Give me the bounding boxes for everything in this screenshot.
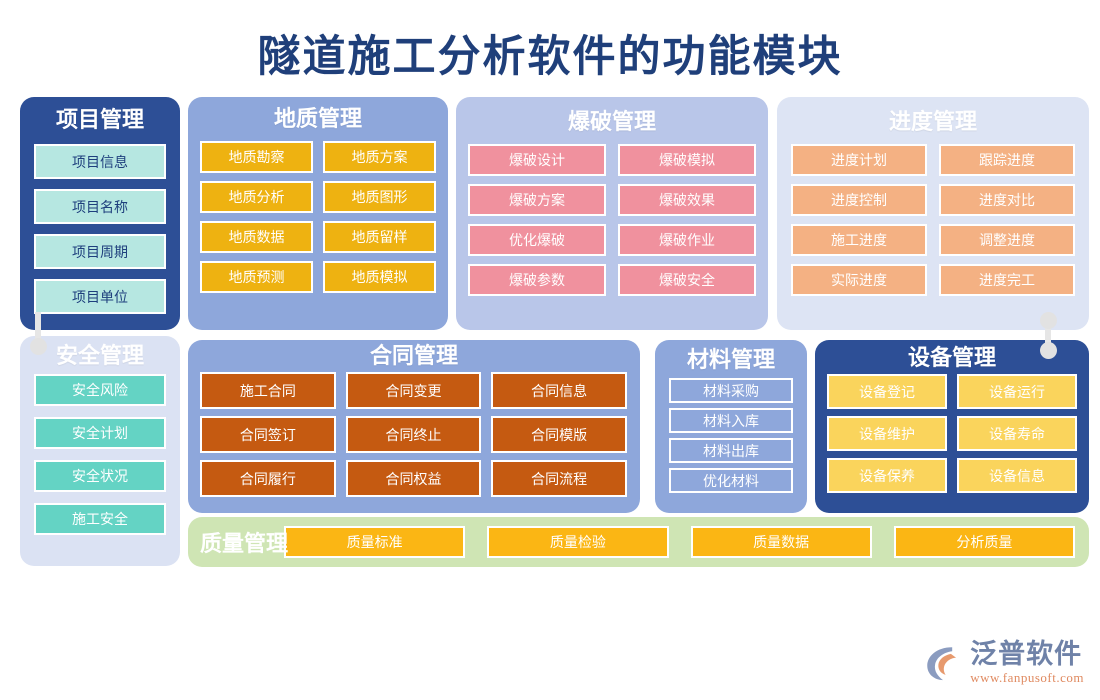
item-contract-performance[interactable]: 合同履行 <box>200 460 336 497</box>
brand-name: 泛普软件 <box>970 641 1084 668</box>
item-progress-comparison[interactable]: 进度对比 <box>939 184 1075 216</box>
item-contract-termination[interactable]: 合同终止 <box>346 416 482 453</box>
item-blasting-effect[interactable]: 爆破效果 <box>618 184 756 216</box>
connector-dot-bottom-icon <box>1040 342 1057 359</box>
panel-title-progress: 进度管理 <box>777 110 1089 134</box>
brand-url: www.fanpusoft.com <box>970 671 1084 684</box>
item-safety-status[interactable]: 安全状况 <box>34 460 166 492</box>
connector-pin-right <box>1040 312 1064 366</box>
item-blasting-safety[interactable]: 爆破安全 <box>618 264 756 296</box>
item-contract-info[interactable]: 合同信息 <box>491 372 627 409</box>
panel-title-blasting: 爆破管理 <box>456 110 768 134</box>
item-contract-change[interactable]: 合同变更 <box>346 372 482 409</box>
item-list-geology: 地质勘察 地质方案 地质分析 地质图形 地质数据 地质留样 地质预测 地质模拟 <box>188 131 448 293</box>
item-geology-analysis[interactable]: 地质分析 <box>200 181 313 213</box>
panel-title-material: 材料管理 <box>655 348 807 372</box>
panel-project-management[interactable]: 项目管理 项目信息 项目名称 项目周期 项目单位 <box>20 97 180 330</box>
page-title: 隧道施工分析软件的功能模块 <box>0 22 1100 84</box>
item-list-project: 项目信息 项目名称 项目周期 项目单位 <box>20 132 180 314</box>
panel-title-project: 项目管理 <box>20 108 180 132</box>
item-progress-control[interactable]: 进度控制 <box>791 184 927 216</box>
item-equipment-lifespan[interactable]: 设备寿命 <box>957 416 1077 451</box>
item-project-cycle[interactable]: 项目周期 <box>34 234 166 269</box>
item-blasting-simulation[interactable]: 爆破模拟 <box>618 144 756 176</box>
item-contract-workflow[interactable]: 合同流程 <box>491 460 627 497</box>
panel-title-quality: 质量管理 <box>200 526 288 558</box>
item-quality-analysis[interactable]: 分析质量 <box>894 526 1075 558</box>
item-quality-standard[interactable]: 质量标准 <box>284 526 465 558</box>
panel-title-contract: 合同管理 <box>188 344 640 368</box>
item-equipment-info[interactable]: 设备信息 <box>957 458 1077 493</box>
item-equipment-upkeep[interactable]: 设备保养 <box>827 458 947 493</box>
item-contract-template[interactable]: 合同模版 <box>491 416 627 453</box>
item-progress-completion[interactable]: 进度完工 <box>939 264 1075 296</box>
item-safety-construction[interactable]: 施工安全 <box>34 503 166 535</box>
item-geology-graphics[interactable]: 地质图形 <box>323 181 436 213</box>
item-geology-survey[interactable]: 地质勘察 <box>200 141 313 173</box>
item-progress-plan[interactable]: 进度计划 <box>791 144 927 176</box>
connector-pin-left <box>30 308 54 354</box>
item-list-equipment: 设备登记 设备运行 设备维护 设备寿命 设备保养 设备信息 <box>815 370 1089 493</box>
item-material-optimize[interactable]: 优化材料 <box>669 468 793 493</box>
item-blasting-optimize[interactable]: 优化爆破 <box>468 224 606 256</box>
item-list-safety: 安全风险 安全计划 安全状况 施工安全 <box>20 368 180 535</box>
brand-text: 泛普软件 www.fanpusoft.com <box>970 641 1084 684</box>
panel-material-management[interactable]: 材料管理 材料采购 材料入库 材料出库 优化材料 <box>655 340 807 513</box>
item-project-info[interactable]: 项目信息 <box>34 144 166 179</box>
item-list-progress: 进度计划 跟踪进度 进度控制 进度对比 施工进度 调整进度 实际进度 进度完工 <box>777 134 1089 296</box>
item-geology-data[interactable]: 地质数据 <box>200 221 313 253</box>
item-safety-risk[interactable]: 安全风险 <box>34 374 166 406</box>
panel-blasting-management[interactable]: 爆破管理 爆破设计 爆破模拟 爆破方案 爆破效果 优化爆破 爆破作业 爆破参数 … <box>456 97 768 330</box>
item-blasting-plan[interactable]: 爆破方案 <box>468 184 606 216</box>
item-progress-adjust[interactable]: 调整进度 <box>939 224 1075 256</box>
diagram-canvas: 隧道施工分析软件的功能模块 项目管理 项目信息 项目名称 项目周期 项目单位 地… <box>0 0 1100 700</box>
item-safety-plan[interactable]: 安全计划 <box>34 417 166 449</box>
fanpu-logo-icon <box>922 642 964 684</box>
item-geology-sample[interactable]: 地质留样 <box>323 221 436 253</box>
panel-contract-management[interactable]: 合同管理 施工合同 合同变更 合同信息 合同签订 合同终止 合同模版 合同履行 … <box>188 340 640 513</box>
item-quality-inspection[interactable]: 质量检验 <box>487 526 668 558</box>
item-material-outbound[interactable]: 材料出库 <box>669 438 793 463</box>
panel-safety-management[interactable]: 安全管理 安全风险 安全计划 安全状况 施工安全 <box>20 336 180 566</box>
item-contract-signing[interactable]: 合同签订 <box>200 416 336 453</box>
item-progress-tracking[interactable]: 跟踪进度 <box>939 144 1075 176</box>
connector-dot-top-icon <box>1040 312 1057 329</box>
item-geology-simulation[interactable]: 地质模拟 <box>323 261 436 293</box>
item-geology-plan[interactable]: 地质方案 <box>323 141 436 173</box>
item-project-name[interactable]: 项目名称 <box>34 189 166 224</box>
item-material-inbound[interactable]: 材料入库 <box>669 408 793 433</box>
item-blasting-parameter[interactable]: 爆破参数 <box>468 264 606 296</box>
item-equipment-operation[interactable]: 设备运行 <box>957 374 1077 409</box>
item-list-contract: 施工合同 合同变更 合同信息 合同签订 合同终止 合同模版 合同履行 合同权益 … <box>188 368 640 497</box>
item-list-material: 材料采购 材料入库 材料出库 优化材料 <box>655 372 807 493</box>
item-geology-forecast[interactable]: 地质预测 <box>200 261 313 293</box>
item-blasting-operation[interactable]: 爆破作业 <box>618 224 756 256</box>
panel-quality-management[interactable]: 质量管理 质量标准 质量检验 质量数据 分析质量 <box>188 517 1089 567</box>
item-contract-rights[interactable]: 合同权益 <box>346 460 482 497</box>
panel-progress-management[interactable]: 进度管理 进度计划 跟踪进度 进度控制 进度对比 施工进度 调整进度 实际进度 … <box>777 97 1089 330</box>
item-equipment-maintenance[interactable]: 设备维护 <box>827 416 947 451</box>
item-equipment-registration[interactable]: 设备登记 <box>827 374 947 409</box>
connector-dot-icon <box>30 338 47 355</box>
item-list-blasting: 爆破设计 爆破模拟 爆破方案 爆破效果 优化爆破 爆破作业 爆破参数 爆破安全 <box>456 134 768 296</box>
item-list-quality: 质量标准 质量检验 质量数据 分析质量 <box>284 526 1089 558</box>
panel-geology-management[interactable]: 地质管理 地质勘察 地质方案 地质分析 地质图形 地质数据 地质留样 地质预测 … <box>188 97 448 330</box>
item-blasting-design[interactable]: 爆破设计 <box>468 144 606 176</box>
item-quality-data[interactable]: 质量数据 <box>691 526 872 558</box>
item-progress-construction[interactable]: 施工进度 <box>791 224 927 256</box>
item-progress-actual[interactable]: 实际进度 <box>791 264 927 296</box>
item-material-purchase[interactable]: 材料采购 <box>669 378 793 403</box>
item-contract-construction[interactable]: 施工合同 <box>200 372 336 409</box>
panel-title-geology: 地质管理 <box>188 107 448 131</box>
brand-logo: 泛普软件 www.fanpusoft.com <box>922 641 1084 684</box>
